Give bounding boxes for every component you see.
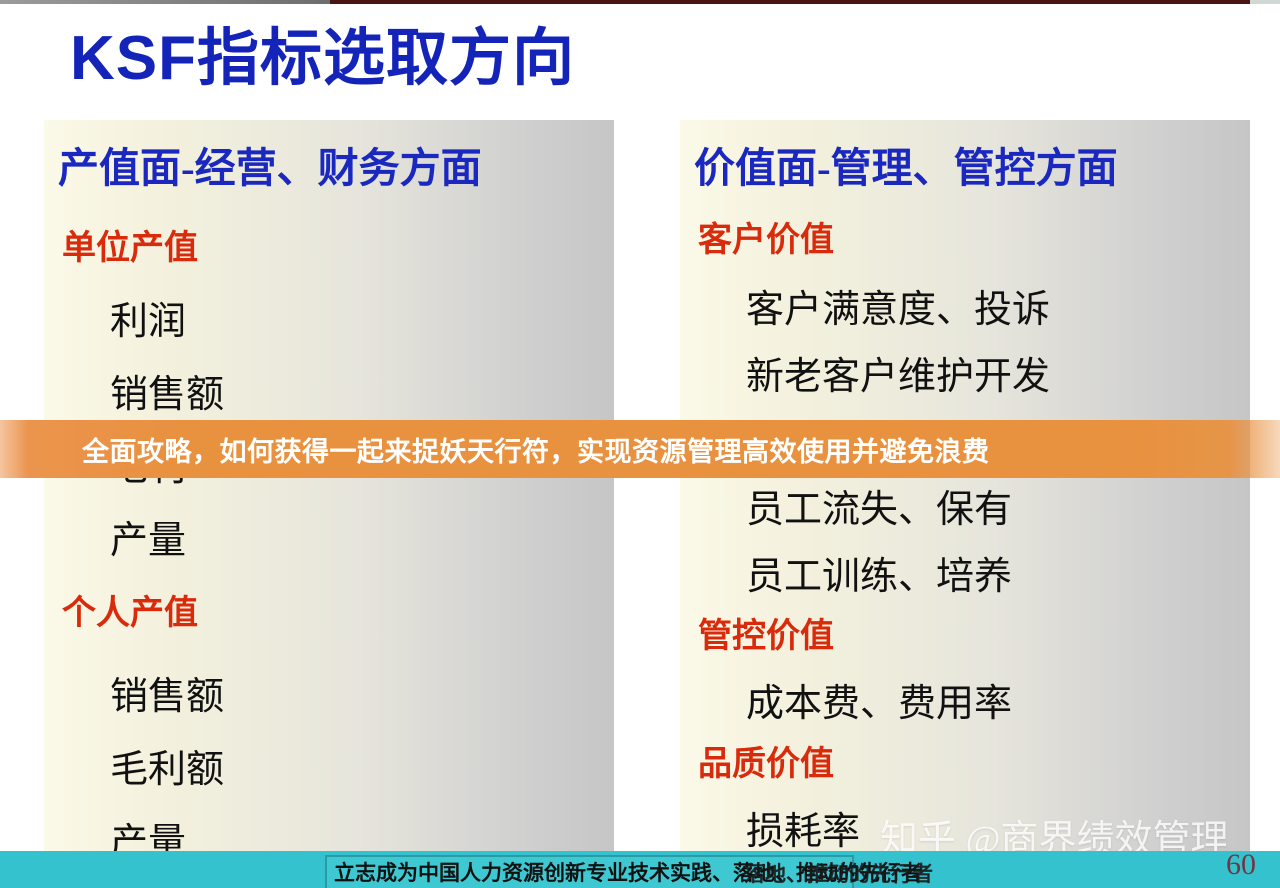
top-edge-strip-center: [330, 0, 1250, 4]
slide-title-area: KSF指标选取方向: [70, 16, 770, 102]
promo-banner[interactable]: 全面攻略，如何获得一起来捉妖天行符，实现资源管理高效使用并避免浪费: [0, 420, 1280, 478]
list-item: 利润: [110, 290, 186, 345]
list-item: 员工流失、保有: [746, 478, 1012, 533]
group-heading-control-value: 管控价值: [698, 608, 834, 657]
list-item: 客户满意度、投诉: [746, 278, 1050, 333]
group-heading-unit-output: 单位产值: [62, 220, 198, 269]
page-number: 60: [1226, 848, 1256, 882]
list-item: 产量: [110, 509, 186, 564]
slide-canvas: KSF指标选取方向 产值面-经营、财务方面 单位产值 利润 销售额 毛利 产量 …: [0, 0, 1280, 888]
top-edge-strip-right: [1250, 0, 1280, 4]
list-item: 毛利额: [110, 738, 224, 793]
list-item: 新老客户维护开发: [746, 345, 1050, 400]
panel-right-heading: 价值面-管理、管控方面: [694, 134, 1250, 194]
group-heading-quality-value: 品质价值: [698, 736, 834, 785]
group-heading-customer-value: 客户价值: [698, 212, 834, 261]
top-edge-strip-left: [0, 0, 330, 4]
promo-banner-text: 全面攻略，如何获得一起来捉妖天行符，实现资源管理高效使用并避免浪费: [82, 430, 990, 469]
list-item: 销售额: [110, 665, 224, 720]
page-title: KSF指标选取方向: [70, 16, 770, 102]
footer-slogan-overlap: 落地、推动的先行者: [744, 858, 933, 888]
list-item: 销售额: [110, 363, 224, 418]
panel-production-value: 产值面-经营、财务方面 单位产值 利润 销售额 毛利 产量 个人产值 销售额 毛…: [44, 120, 614, 860]
panel-value-management: 价值面-管理、管控方面 客户价值 客户满意度、投诉 新老客户维护开发 员工价值 …: [680, 120, 1250, 860]
list-item: 损耗率: [746, 800, 860, 855]
panel-left-heading: 产值面-经营、财务方面: [58, 134, 614, 194]
list-item: 员工训练、培养: [746, 545, 1012, 600]
group-heading-personal-output: 个人产值: [62, 585, 198, 634]
list-item: 成本费、费用率: [746, 672, 1012, 727]
